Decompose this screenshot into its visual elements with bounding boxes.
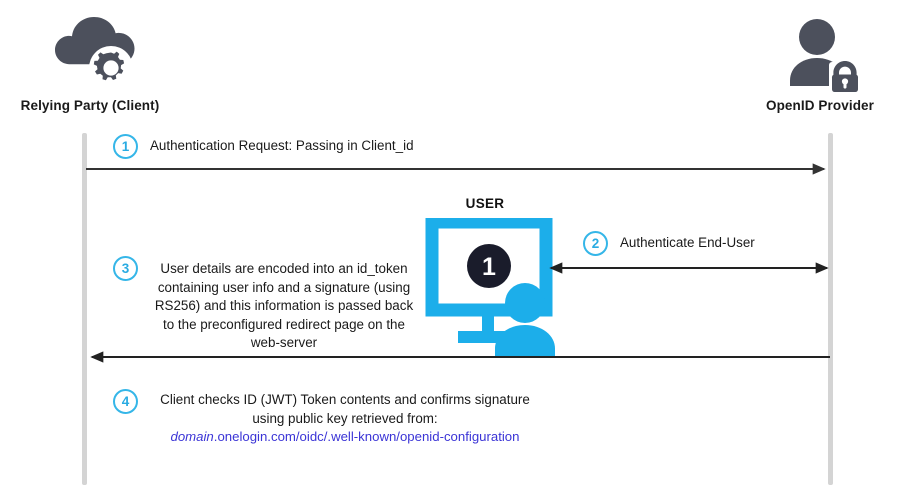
actor-relying-party-label: Relying Party (Client) [0, 98, 180, 113]
url-domain-placeholder: domain [171, 429, 214, 444]
step-1-text: Authentication Request: Passing in Clien… [150, 137, 570, 156]
step-3-line-3: RS256) and this information is passed ba… [145, 297, 423, 316]
user-label: USER [425, 196, 545, 211]
arrow-step-2 [548, 262, 836, 276]
arrow-step-3 [88, 351, 836, 365]
lifeline-openid-provider [828, 133, 833, 485]
step-4-line-2: using public key retrieved from: [148, 410, 542, 429]
actor-openid-provider-label: OpenID Provider [740, 98, 900, 113]
openid-connect-flow-diagram: Relying Party (Client) OpenID Provider 1… [0, 0, 900, 497]
step-4-url[interactable]: domain.onelogin.com/oidc/.well-known/ope… [148, 428, 542, 447]
url-rest: .onelogin.com/oidc/.well-known/openid-co… [214, 429, 520, 444]
step-3-line-4: to the preconfigured redirect page on th… [145, 316, 423, 335]
step-3-line-5: web-server [145, 334, 423, 353]
step-3-text: User details are encoded into an id_toke… [145, 260, 423, 353]
screen-badge-number: 1 [482, 253, 496, 281]
lifeline-relying-party [82, 133, 87, 485]
step-4-line-1: Client checks ID (JWT) Token contents an… [148, 391, 542, 410]
arrow-step-1 [86, 163, 834, 177]
step-badge-1: 1 [113, 134, 138, 159]
monitor-person-icon: 1 [425, 218, 565, 356]
step-2-text: Authenticate End-User [620, 234, 880, 253]
actor-relying-party: Relying Party (Client) [0, 14, 180, 113]
step-2-line-1: Authenticate End-User [620, 234, 880, 253]
user-actor-graphic: USER 1 [425, 196, 565, 356]
step-badge-2: 2 [583, 231, 608, 256]
step-1-line-1: Authentication Request: Passing in Clien… [150, 137, 570, 156]
step-4-text: Client checks ID (JWT) Token contents an… [148, 391, 542, 447]
step-badge-3: 3 [113, 256, 138, 281]
user-lock-icon [777, 14, 863, 92]
step-3-line-1: User details are encoded into an id_toke… [145, 260, 423, 279]
cloud-gear-icon [42, 14, 138, 92]
actor-openid-provider: OpenID Provider [740, 14, 900, 113]
step-badge-4: 4 [113, 389, 138, 414]
step-3-line-2: containing user info and a signature (us… [145, 279, 423, 298]
